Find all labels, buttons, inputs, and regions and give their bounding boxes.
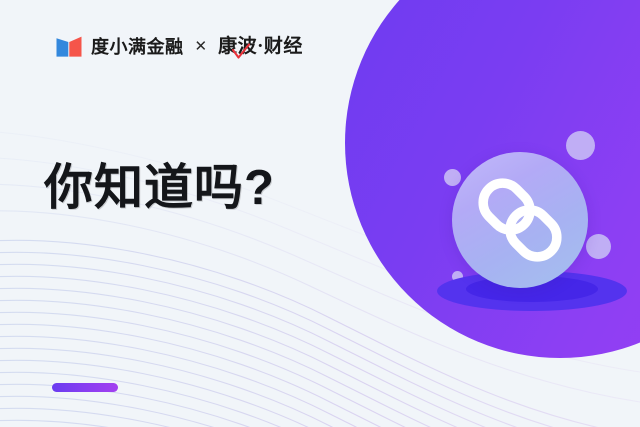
brand-primary-label: 度小满金融 bbox=[91, 38, 184, 56]
poster-canvas: 度小满金融 ✕ 康波·财经 你知道吗? bbox=[0, 0, 640, 427]
link-icon-sphere bbox=[452, 152, 588, 288]
red-checkmark-icon bbox=[232, 43, 250, 59]
chain-link-icon bbox=[452, 152, 588, 288]
page-title: 你知道吗? bbox=[44, 164, 275, 213]
open-book-logo-icon bbox=[56, 36, 82, 57]
brand-secondary-label: 康波·财经 bbox=[218, 36, 303, 57]
brand-lockup: 度小满金融 ✕ 康波·财经 bbox=[56, 36, 303, 57]
accent-bar bbox=[52, 383, 118, 392]
collab-cross-icon: ✕ bbox=[193, 39, 210, 54]
decorative-dot bbox=[586, 234, 611, 259]
brand-secondary-group: 康波·财经 bbox=[218, 37, 303, 56]
